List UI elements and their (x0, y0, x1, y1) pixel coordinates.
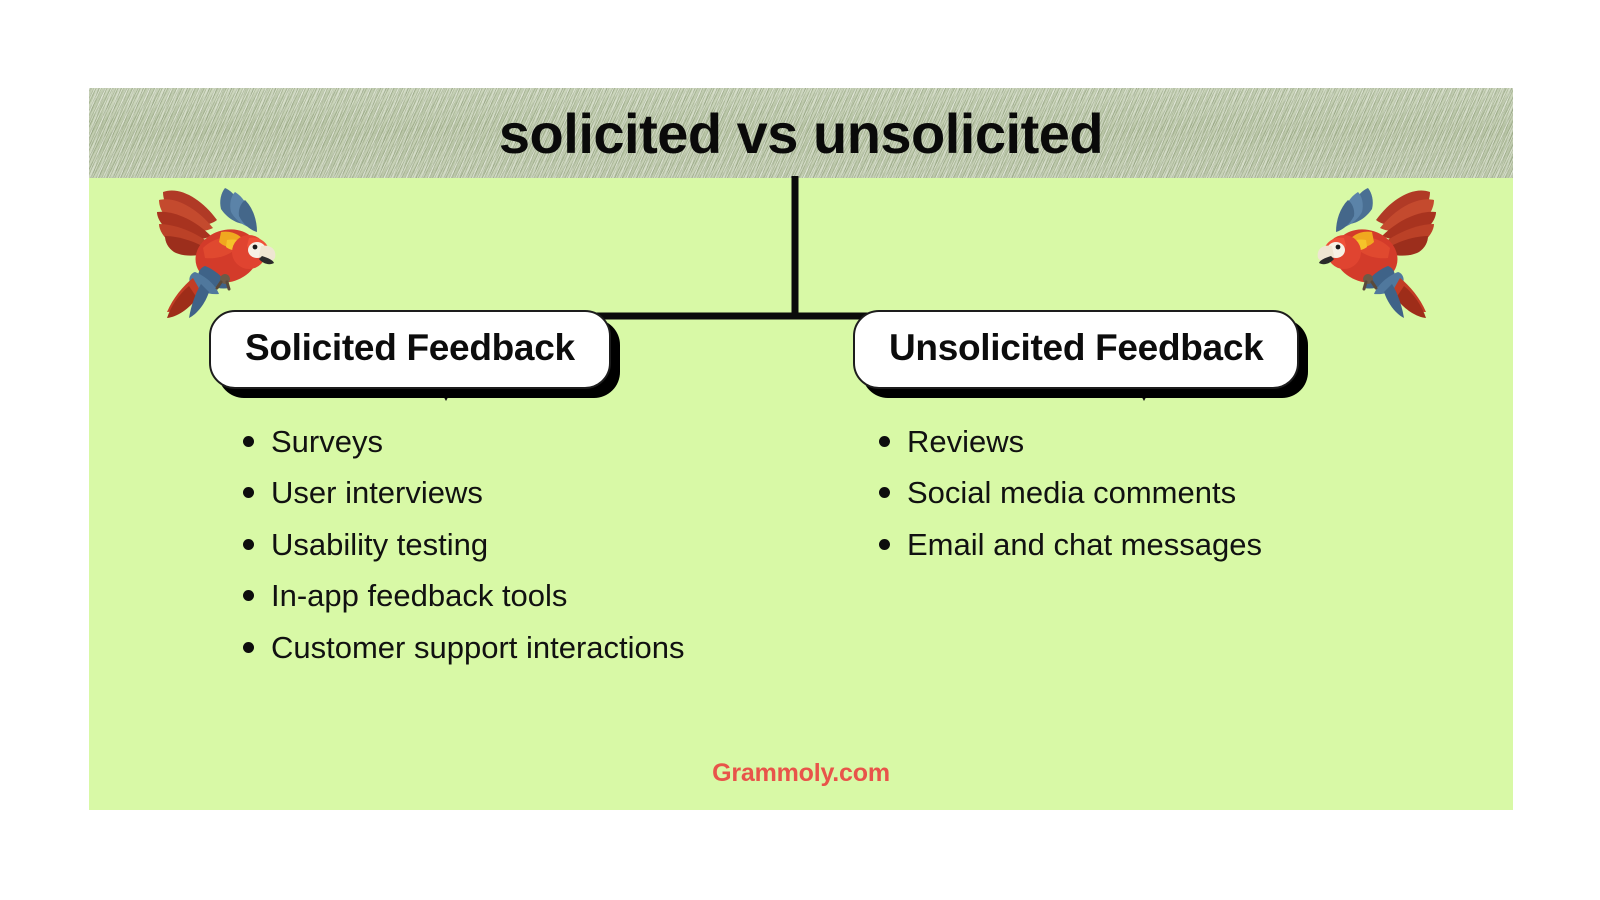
unsolicited-feedback-card[interactable]: Unsolicited Feedback (853, 310, 1299, 389)
card-heading: Unsolicited Feedback (889, 328, 1263, 369)
infographic-canvas: solicited vs unsolicited (0, 0, 1600, 900)
card-wrapper: Unsolicited Feedback (849, 310, 1299, 389)
connector-arrows (89, 176, 1513, 316)
card-heading: Solicited Feedback (245, 328, 575, 369)
parrot-icon (149, 174, 279, 324)
content-panel: solicited vs unsolicited (89, 88, 1513, 810)
solicited-feedback-list: Surveys User interviews Usability testin… (231, 417, 769, 673)
list-item: Reviews (867, 417, 1367, 467)
column-solicited: Solicited Feedback Surveys User intervie… (209, 310, 769, 675)
watermark-text: Grammoly.com (712, 759, 890, 787)
list-item: User interviews (231, 468, 731, 518)
footer: Grammoly.com (89, 759, 1513, 788)
card-wrapper: Solicited Feedback (209, 310, 611, 389)
unsolicited-feedback-list: Reviews Social media comments Email and … (867, 417, 1409, 570)
solicited-feedback-card[interactable]: Solicited Feedback (209, 310, 611, 389)
list-item: Email and chat messages (867, 520, 1367, 570)
header-band: solicited vs unsolicited (89, 88, 1513, 178)
page-title: solicited vs unsolicited (499, 106, 1103, 162)
column-unsolicited: Unsolicited Feedback Reviews Social medi… (849, 310, 1409, 571)
list-item: Surveys (231, 417, 731, 467)
parrot-icon (1314, 174, 1444, 324)
list-item: Social media comments (867, 468, 1367, 518)
list-item: In-app feedback tools (231, 571, 731, 621)
list-item: Customer support interactions (231, 623, 731, 673)
list-item: Usability testing (231, 520, 731, 570)
